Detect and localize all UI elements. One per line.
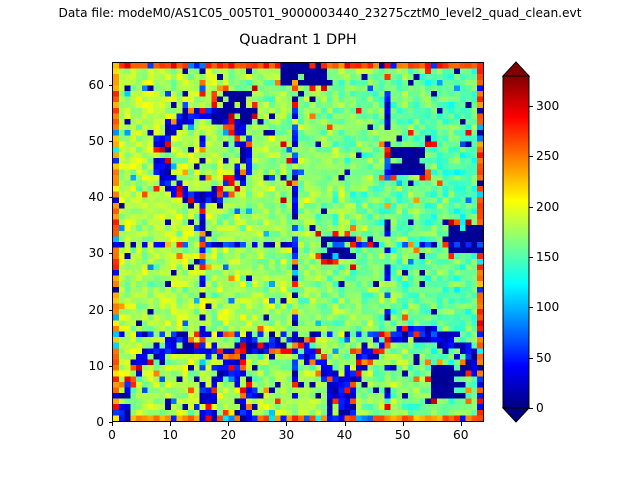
x-tick-label: 20 <box>220 428 236 442</box>
x-tick-label: 30 <box>279 428 295 442</box>
y-tick-mark <box>109 197 113 198</box>
y-tick-mark <box>109 141 113 142</box>
x-tick-label: 10 <box>162 428 178 442</box>
y-tick-mark <box>109 85 113 86</box>
colorbar-tick-mark <box>529 207 533 208</box>
colorbar-tick-mark <box>529 408 533 409</box>
colorbar-extend-bottom-arrow <box>503 408 529 422</box>
y-tick-mark <box>109 422 113 423</box>
x-tick-label: 0 <box>108 428 116 442</box>
colorbar-tick-label: 0 <box>536 401 544 415</box>
heatmap-axes[interactable] <box>112 62 484 422</box>
colorbar-extend-top-arrow <box>503 62 529 76</box>
colorbar-tick-label: 150 <box>536 250 559 264</box>
x-tick-label: 50 <box>395 428 411 442</box>
colorbar-tick-mark <box>529 307 533 308</box>
colorbar-tick-label: 50 <box>536 351 552 365</box>
colorbar-tick-label: 300 <box>536 99 559 113</box>
x-tick-label: 60 <box>453 428 469 442</box>
colorbar-tick-mark <box>529 358 533 359</box>
colorbar-tick-label: 100 <box>536 300 559 314</box>
x-tick-mark <box>403 422 404 426</box>
dph-heatmap-image[interactable] <box>113 63 483 421</box>
y-tick-mark <box>109 310 113 311</box>
x-tick-mark <box>286 422 287 426</box>
matplotlib-figure: Data file: modeM0/AS1C05_005T01_90000034… <box>0 0 640 480</box>
colorbar-tick-label: 250 <box>536 149 559 163</box>
data-file-suptitle: Data file: modeM0/AS1C05_005T01_90000034… <box>0 6 640 20</box>
colorbar-tick-mark <box>529 257 533 258</box>
colorbar[interactable] <box>503 62 529 422</box>
x-tick-mark <box>345 422 346 426</box>
x-tick-mark <box>461 422 462 426</box>
plot-title: Quadrant 1 DPH <box>112 31 484 49</box>
y-tick-label: 50 <box>68 134 104 148</box>
y-tick-label: 20 <box>68 303 104 317</box>
y-tick-label: 0 <box>68 415 104 429</box>
y-tick-label: 40 <box>68 190 104 204</box>
colorbar-gradient <box>503 62 529 422</box>
colorbar-tick-mark <box>529 156 533 157</box>
y-tick-label: 10 <box>68 359 104 373</box>
x-tick-label: 40 <box>337 428 353 442</box>
y-tick-mark <box>109 253 113 254</box>
x-tick-mark <box>228 422 229 426</box>
y-tick-label: 30 <box>68 246 104 260</box>
x-tick-mark <box>112 422 113 426</box>
x-tick-mark <box>170 422 171 426</box>
y-tick-mark <box>109 366 113 367</box>
y-tick-label: 60 <box>68 78 104 92</box>
colorbar-body <box>503 76 529 408</box>
colorbar-tick-label: 200 <box>536 200 559 214</box>
colorbar-tick-mark <box>529 106 533 107</box>
